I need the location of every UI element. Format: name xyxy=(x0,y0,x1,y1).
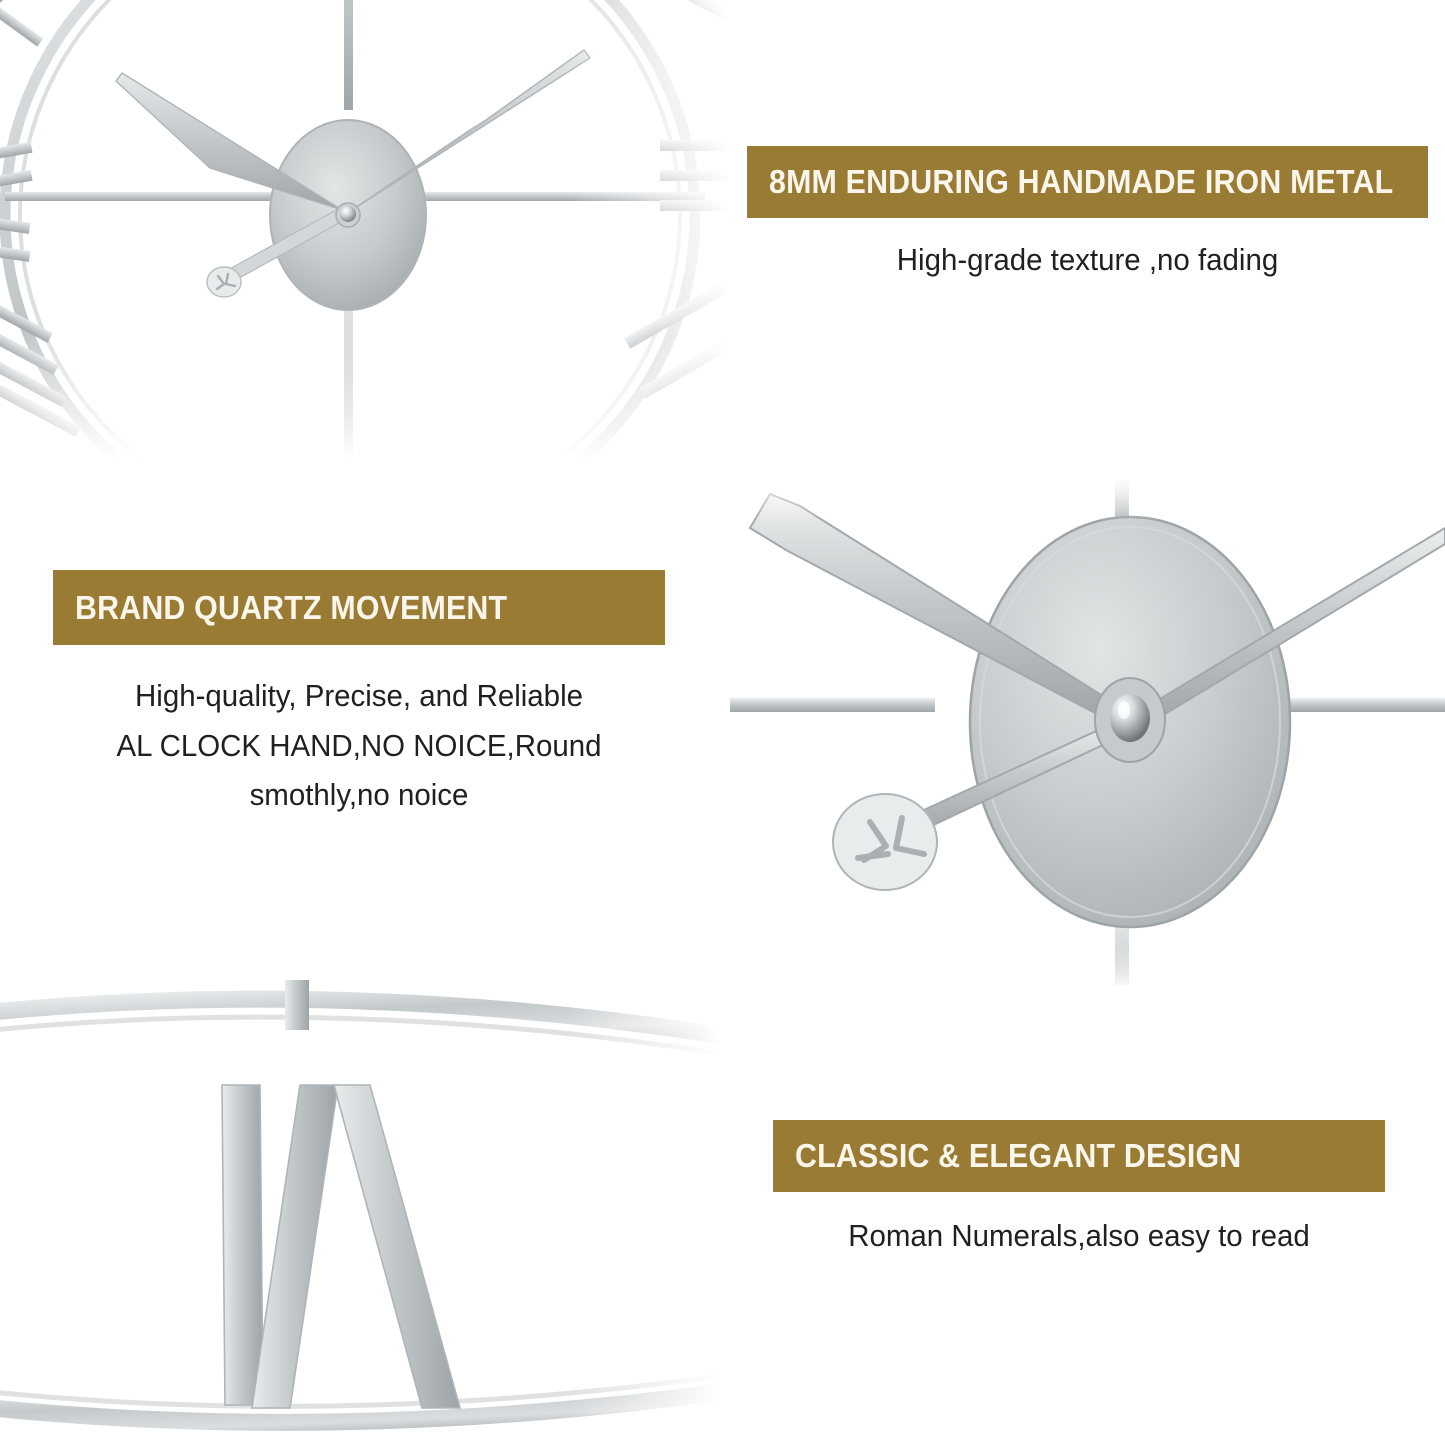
clock-hub-photo xyxy=(730,470,1445,990)
caption-line: AL CLOCK HAND,NO NOICE,Round xyxy=(68,721,649,771)
caption-line: smothly,no noice xyxy=(68,770,649,820)
banner-iron-metal: 8MM ENDURING HANDMADE IRON METAL xyxy=(747,146,1428,218)
caption-line: Roman Numerals,also easy to read xyxy=(788,1214,1369,1258)
caption-iron-metal: High-grade texture ,no fading xyxy=(764,238,1411,282)
caption-classic-design: Roman Numerals,also easy to read xyxy=(788,1214,1369,1258)
feature-block-iron-metal: 8MM ENDURING HANDMADE IRON METAL High-gr… xyxy=(747,146,1428,282)
banner-title-classic-design: CLASSIC & ELEGANT DESIGN xyxy=(795,1137,1241,1175)
banner-quartz-movement: BRAND QUARTZ MOVEMENT xyxy=(53,570,665,645)
caption-line: High-quality, Precise, and Reliable xyxy=(68,671,649,721)
feature-block-classic-design: CLASSIC & ELEGANT DESIGN Roman Numerals,… xyxy=(773,1120,1385,1258)
roman-numeral-photo xyxy=(0,980,720,1446)
banner-title-quartz-movement: BRAND QUARTZ MOVEMENT xyxy=(75,589,507,627)
clock-dial-photo xyxy=(0,0,730,460)
banner-title-iron-metal: 8MM ENDURING HANDMADE IRON METAL xyxy=(769,163,1393,201)
banner-classic-design: CLASSIC & ELEGANT DESIGN xyxy=(773,1120,1385,1192)
caption-quartz-movement: High-quality, Precise, and Reliable AL C… xyxy=(68,671,649,820)
feature-block-quartz-movement: BRAND QUARTZ MOVEMENT High-quality, Prec… xyxy=(53,570,665,820)
infographic-page: 8MM ENDURING HANDMADE IRON METAL High-gr… xyxy=(0,0,1445,1446)
caption-line: High-grade texture ,no fading xyxy=(764,238,1411,282)
